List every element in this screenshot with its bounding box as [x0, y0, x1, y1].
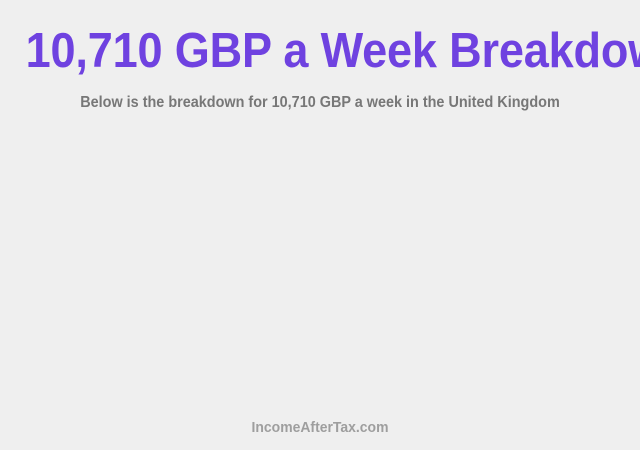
- page-header: 10,710 GBP a Week Breakdown Below is the…: [0, 0, 640, 111]
- page-root: 10,710 GBP a Week Breakdown Below is the…: [0, 0, 640, 450]
- page-subtitle: Below is the breakdown for 10,710 GBP a …: [22, 95, 617, 111]
- page-title: 10,710 GBP a Week Breakdown: [26, 0, 615, 76]
- page-footer: IncomeAfterTax.com: [0, 420, 640, 450]
- main-content-area: [0, 111, 640, 421]
- footer-site-credit: IncomeAfterTax.com: [22, 420, 617, 435]
